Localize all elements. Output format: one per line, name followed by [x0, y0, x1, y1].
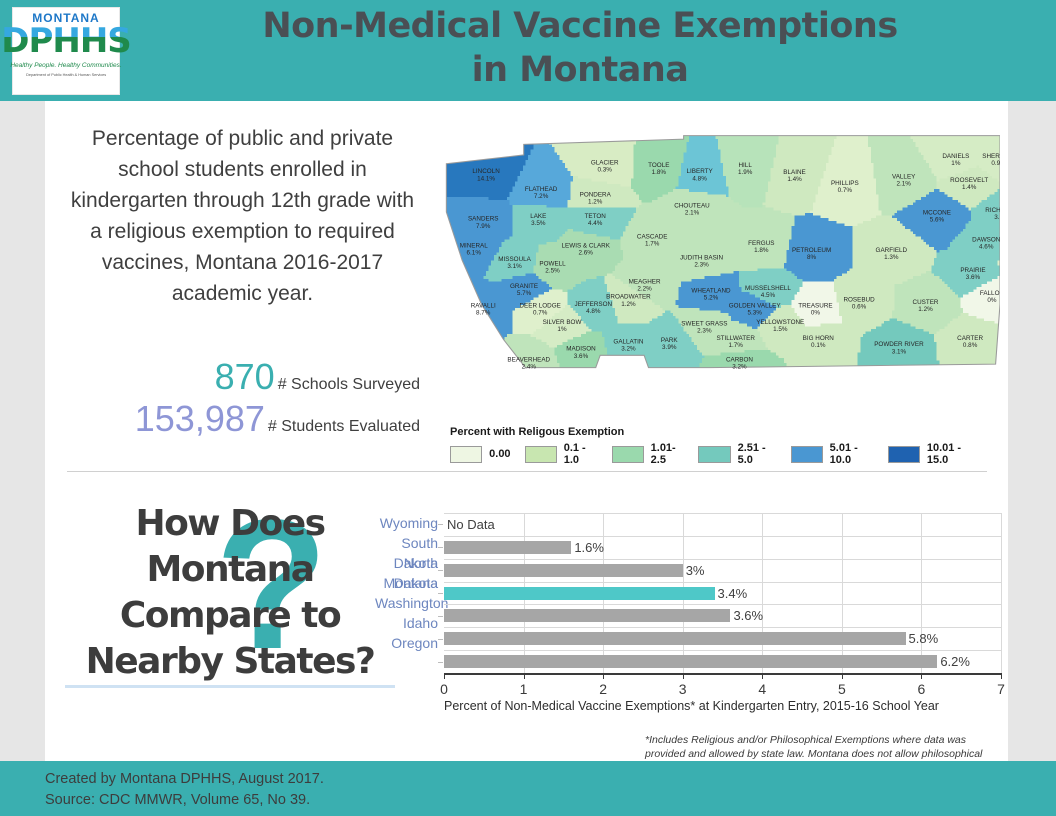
chart-gridline-v-6 — [921, 513, 922, 673]
county-value-mineral: 6.1% — [467, 250, 482, 257]
section-divider — [67, 471, 987, 472]
county-label-stillwater: STILLWATER — [716, 335, 755, 342]
chart-row-tick-1 — [438, 547, 443, 548]
chart-gridline-h-6 — [444, 650, 1001, 651]
county-label-prairie: PRAIRIE — [960, 267, 985, 274]
county-value-lewis-clark: 2.6% — [579, 250, 594, 257]
chart-value-label-montana: 3.4% — [718, 587, 748, 600]
county-label-dawson: DAWSON — [972, 236, 1000, 243]
county-value-sanders: 7.9% — [476, 223, 491, 230]
county-label-mineral: MINERAL — [460, 243, 489, 250]
logo-tagline: Healthy People. Healthy Communities. — [10, 62, 121, 69]
chart-gridline-v-5 — [842, 513, 843, 673]
county-label-blaine: BLAINE — [783, 169, 805, 176]
footer-text: Created by Montana DPHHS, August 2017. S… — [45, 769, 324, 811]
county-label-petroleum: PETROLEUM — [792, 247, 831, 254]
chart-xtick-7 — [1001, 673, 1002, 679]
county-label-madison: MADISON — [566, 346, 596, 353]
chart-xticklabel-0: 0 — [440, 681, 448, 697]
stats-block: 870 # Schools Surveyed 153,987 # Student… — [55, 356, 420, 440]
compare-heading-line4: Nearby States? — [65, 639, 395, 688]
chart-value-label-oregon: 6.2% — [940, 655, 970, 668]
legend-swatch-1 — [525, 446, 557, 463]
county-value-broadwater: 1.2% — [621, 301, 636, 308]
chart-gridline-v-7 — [1001, 513, 1002, 673]
county-label-park: PARK — [661, 337, 679, 344]
stat-value-students: 153,987 — [135, 398, 265, 440]
county-label-teton: TETON — [585, 213, 607, 220]
legend-swatch-5 — [888, 446, 920, 463]
county-label-silver-bow: SILVER BOW — [543, 319, 582, 326]
county-label-treasure: TREASURE — [798, 303, 832, 310]
chart-row-tick-3 — [438, 593, 443, 594]
county-gallatin — [602, 324, 652, 385]
chart-xticklabel-7: 7 — [997, 681, 1005, 697]
county-label-golden-valley: GOLDEN VALLEY — [729, 303, 782, 310]
county-value-chouteau: 2.1% — [685, 209, 700, 216]
footer-line1: Created by Montana DPHHS, August 2017. — [45, 769, 324, 790]
county-value-fallon: 0% — [987, 297, 997, 304]
county-label-granite: GRANITE — [510, 283, 538, 290]
county-label-valley: VALLEY — [892, 174, 916, 181]
stat-row-schools: 870 # Schools Surveyed — [55, 356, 420, 398]
chart-xtick-6 — [921, 673, 922, 679]
county-value-deer-lodge: 0.7% — [533, 310, 548, 317]
chart-gridline-h-1 — [444, 536, 1001, 537]
county-label-broadwater: BROADWATER — [606, 294, 651, 301]
county-value-ravalli: 8.7% — [476, 310, 491, 317]
legend-label-4: 5.01 - 10.0 — [830, 442, 874, 466]
page-footer: Created by Montana DPHHS, August 2017. S… — [0, 761, 1056, 816]
chart-gridline-h-0 — [444, 513, 1001, 514]
legend-label-3: 2.51 - 5.0 — [738, 442, 777, 466]
chart-value-label-washington: 3.6% — [733, 609, 763, 622]
county-value-gallatin: 3.2% — [621, 346, 636, 353]
county-value-prairie: 3.6% — [966, 274, 981, 281]
county-label-lake: LAKE — [530, 213, 546, 220]
page-title-line2: in Montana — [130, 48, 1030, 92]
chart-row-tick-0 — [438, 524, 443, 525]
chart-xtick-3 — [683, 673, 684, 679]
chart-gridline-h-5 — [444, 627, 1001, 628]
county-label-liberty: LIBERTY — [687, 168, 714, 175]
county-value-rosebud: 0.6% — [852, 303, 867, 310]
county-value-treasure: 0% — [811, 310, 821, 317]
chart-xticklabel-4: 4 — [758, 681, 766, 697]
legend-label-1: 0.1 - 1.0 — [564, 442, 598, 466]
chart-xticklabel-2: 2 — [599, 681, 607, 697]
stat-label-students: # Students Evaluated — [268, 418, 420, 436]
logo-subtitle: Department of Public Health & Human Serv… — [26, 72, 106, 77]
county-label-hill: HILL — [739, 162, 753, 169]
county-value-yellowstone: 1.5% — [773, 326, 788, 333]
compare-heading-line1: How Does — [65, 501, 395, 547]
chart-xtick-0 — [444, 673, 445, 679]
county-value-roosevelt: 1.4% — [962, 184, 977, 191]
county-value-daniels: 1% — [951, 160, 961, 167]
county-label-toole: TOOLE — [648, 162, 669, 169]
montana-choropleth-map: LINCOLN14.1%FLATHEAD7.2%GLACIER0.3%TOOLE… — [420, 106, 1000, 456]
county-value-carter: 0.8% — [963, 342, 978, 349]
county-label-sheridan: SHERIDAN — [982, 153, 1000, 160]
county-label-ravalli: RAVALLI — [471, 303, 496, 310]
dphhs-logo: MONTANA DPHHS Healthy People. Healthy Co… — [12, 7, 120, 95]
compare-heading-line2: Montana — [65, 547, 395, 593]
county-value-powell: 2.5% — [545, 268, 560, 275]
chart-bar-north-dakota — [444, 564, 683, 577]
chart-bar-montana — [444, 587, 715, 600]
county-label-gallatin: GALLATIN — [613, 339, 643, 346]
county-label-beaverhead: BEAVERHEAD — [507, 356, 550, 363]
description-text: Percentage of public and private school … — [65, 123, 420, 309]
chart-row-tick-4 — [438, 616, 443, 617]
stat-label-schools: # Schools Surveyed — [278, 376, 420, 394]
chart-row-tick-6 — [438, 662, 443, 663]
county-ravalli — [420, 279, 512, 382]
county-value-fergus: 1.8% — [754, 247, 769, 254]
county-value-jefferson: 4.8% — [586, 308, 601, 315]
chart-xticklabel-5: 5 — [838, 681, 846, 697]
legend-title: Percent with Religous Exemption — [450, 426, 990, 438]
county-label-daniels: DANIELS — [942, 153, 969, 160]
county-label-mccone: MCCONE — [923, 209, 951, 216]
county-label-big-horn: BIG HORN — [803, 335, 835, 342]
chart-bar-south-dakota — [444, 541, 571, 554]
county-label-custer: CUSTER — [913, 299, 939, 306]
compare-heading: How Does Montana Compare to Nearby State… — [65, 501, 395, 688]
chart-xticklabel-1: 1 — [520, 681, 528, 697]
county-value-glacier: 0.3% — [598, 166, 613, 173]
county-value-pondera: 1.2% — [588, 199, 603, 206]
chart-value-label-south-dakota: 1.6% — [574, 541, 604, 554]
county-value-cascade: 1.7% — [645, 241, 660, 248]
page-title-line1: Non-Medical Vaccine Exemptions — [130, 4, 1030, 48]
chart-gridline-v-4 — [762, 513, 763, 673]
county-label-chouteau: CHOUTEAU — [674, 202, 710, 209]
county-label-fergus: FERGUS — [748, 240, 774, 247]
county-value-wheatland: 5.2% — [704, 295, 719, 302]
county-label-cascade: CASCADE — [637, 234, 668, 241]
county-value-lake: 3.5% — [531, 220, 546, 227]
county-label-wheatland: WHEATLAND — [691, 287, 731, 294]
county-value-park: 3.9% — [662, 344, 677, 351]
county-label-flathead: FLATHEAD — [525, 186, 558, 193]
page-title: Non-Medical Vaccine Exemptions in Montan… — [130, 4, 1030, 92]
county-value-garfield: 1.3% — [884, 254, 899, 261]
county-label-rosebud: ROSEBUD — [843, 296, 875, 303]
county-value-golden-valley: 5.3% — [747, 310, 762, 317]
chart-xtick-5 — [842, 673, 843, 679]
page-header: MONTANA DPHHS Healthy People. Healthy Co… — [0, 0, 1056, 101]
chart-bar-idaho — [444, 632, 906, 645]
county-value-musselshell: 4.5% — [761, 292, 776, 299]
county-value-sheridan: 0.9% — [991, 160, 1000, 167]
county-label-lincoln: LINCOLN — [472, 168, 500, 175]
county-value-mccone: 5.6% — [930, 217, 945, 224]
county-value-hill: 1.9% — [738, 169, 753, 176]
chart-xtick-1 — [524, 673, 525, 679]
county-value-toole: 1.8% — [652, 169, 667, 176]
county-label-judith-basin: JUDITH BASIN — [680, 254, 724, 261]
stat-value-schools: 870 — [215, 356, 275, 398]
map-legend: Percent with Religous Exemption 0.000.1 … — [450, 426, 990, 466]
chart-xtick-2 — [603, 673, 604, 679]
logo-dphhs-text: DPHHS — [1, 24, 131, 58]
county-label-musselshell: MUSSELSHELL — [745, 285, 791, 292]
county-value-custer: 1.2% — [918, 306, 933, 313]
county-value-flathead: 7.2% — [534, 193, 549, 200]
chart-value-label-wyoming: No Data — [447, 518, 495, 531]
county-value-granite: 5.7% — [517, 290, 532, 297]
legend-swatch-row: 0.000.1 - 1.01.01-2.52.51 - 5.05.01 - 10… — [450, 442, 990, 466]
county-value-judith-basin: 2.3% — [694, 261, 709, 268]
county-label-sanders: SANDERS — [468, 216, 499, 223]
county-label-phillips: PHILLIPS — [831, 180, 859, 187]
county-label-missoula: MISSOULA — [498, 256, 531, 263]
county-label-powder-river: POWDER RIVER — [874, 341, 924, 348]
county-label-yellowstone: YELLOWSTONE — [756, 319, 804, 326]
chart-xticklabel-3: 3 — [679, 681, 687, 697]
county-label-carter: CARTER — [957, 335, 983, 342]
county-value-madison: 3.6% — [574, 353, 589, 360]
county-label-lewis-clark: LEWIS & CLARK — [562, 243, 611, 250]
county-value-beaverhead: 2.4% — [522, 364, 537, 371]
chart-xticklabel-6: 6 — [918, 681, 926, 697]
county-label-meagher: MEAGHER — [629, 279, 661, 286]
chart-value-label-north-dakota: 3% — [686, 564, 705, 577]
county-value-valley: 2.1% — [896, 181, 911, 188]
county-label-roosevelt: ROOSEVELT — [950, 177, 988, 184]
county-value-powder-river: 3.1% — [892, 348, 907, 355]
chart-gridline-h-3 — [444, 582, 1001, 583]
county-value-silver-bow: 1% — [557, 326, 567, 333]
county-value-missoula: 3.1% — [507, 263, 522, 270]
county-label-pondera: PONDERA — [580, 192, 612, 199]
legend-swatch-0 — [450, 446, 482, 463]
county-label-garfield: GARFIELD — [876, 247, 908, 254]
county-value-phillips: 0.7% — [838, 187, 853, 194]
legend-label-5: 10.01 - 15.0 — [927, 442, 976, 466]
county-label-carbon: CARBON — [726, 356, 753, 363]
content-white-area: Percentage of public and private school … — [45, 101, 1008, 761]
county-value-meagher: 2.2% — [637, 286, 652, 293]
stat-row-students: 153,987 # Students Evaluated — [55, 398, 420, 440]
chart-row-tick-5 — [438, 639, 443, 640]
county-value-petroleum: 8% — [807, 254, 817, 261]
chart-plot-box: No Data1.6%3%3.4%3.6%5.8%6.2% — [444, 513, 1001, 673]
county-label-richland: RICHLAND — [985, 207, 1000, 214]
chart-xtick-4 — [762, 673, 763, 679]
chart-gridline-h-2 — [444, 559, 1001, 560]
chart-x-axis — [444, 673, 1001, 675]
chart-value-label-idaho: 5.8% — [909, 632, 939, 645]
county-label-jefferson: JEFFERSON — [575, 301, 613, 308]
chart-row-tick-2 — [438, 570, 443, 571]
legend-swatch-4 — [791, 446, 823, 463]
county-label-glacier: GLACIER — [591, 159, 619, 166]
compare-heading-line3: Compare to — [65, 593, 395, 639]
chart-plot-area: No Data1.6%3%3.4%3.6%5.8%6.2% 01234567 — [444, 513, 1014, 673]
county-value-richland: 3.1% — [994, 214, 1000, 221]
county-value-liberty: 4.8% — [692, 175, 707, 182]
footer-line2: Source: CDC MMWR, Volume 65, No 39. — [45, 790, 324, 811]
county-value-teton: 4.4% — [588, 220, 603, 227]
chart-gridline-h-4 — [444, 604, 1001, 605]
legend-label-0: 0.00 — [489, 448, 510, 460]
chart-bar-oregon — [444, 655, 937, 668]
county-label-powell: POWELL — [539, 261, 566, 268]
county-value-stillwater: 1.7% — [729, 342, 744, 349]
legend-label-2: 1.01-2.5 — [651, 442, 685, 466]
county-value-dawson: 4.6% — [979, 243, 994, 250]
legend-swatch-3 — [698, 446, 730, 463]
county-value-blaine: 1.4% — [787, 176, 802, 183]
county-label-deer-lodge: DEER LODGE — [519, 303, 560, 310]
county-value-carbon: 3.2% — [732, 364, 747, 371]
county-value-big-horn: 0.1% — [811, 342, 826, 349]
map-svg: LINCOLN14.1%FLATHEAD7.2%GLACIER0.3%TOOLE… — [420, 106, 1000, 406]
county-label-sweet-grass: SWEET GRASS — [681, 321, 727, 328]
county-value-lincoln: 14.1% — [477, 175, 495, 182]
content-sheet: Percentage of public and private school … — [0, 101, 1056, 761]
chart-bar-washington — [444, 609, 730, 622]
legend-swatch-2 — [612, 446, 644, 463]
county-label-fallon: FALLON — [980, 290, 1000, 297]
chart-x-axis-title: Percent of Non-Medical Vaccine Exemption… — [444, 699, 1024, 713]
county-value-sweet-grass: 2.3% — [697, 328, 712, 335]
